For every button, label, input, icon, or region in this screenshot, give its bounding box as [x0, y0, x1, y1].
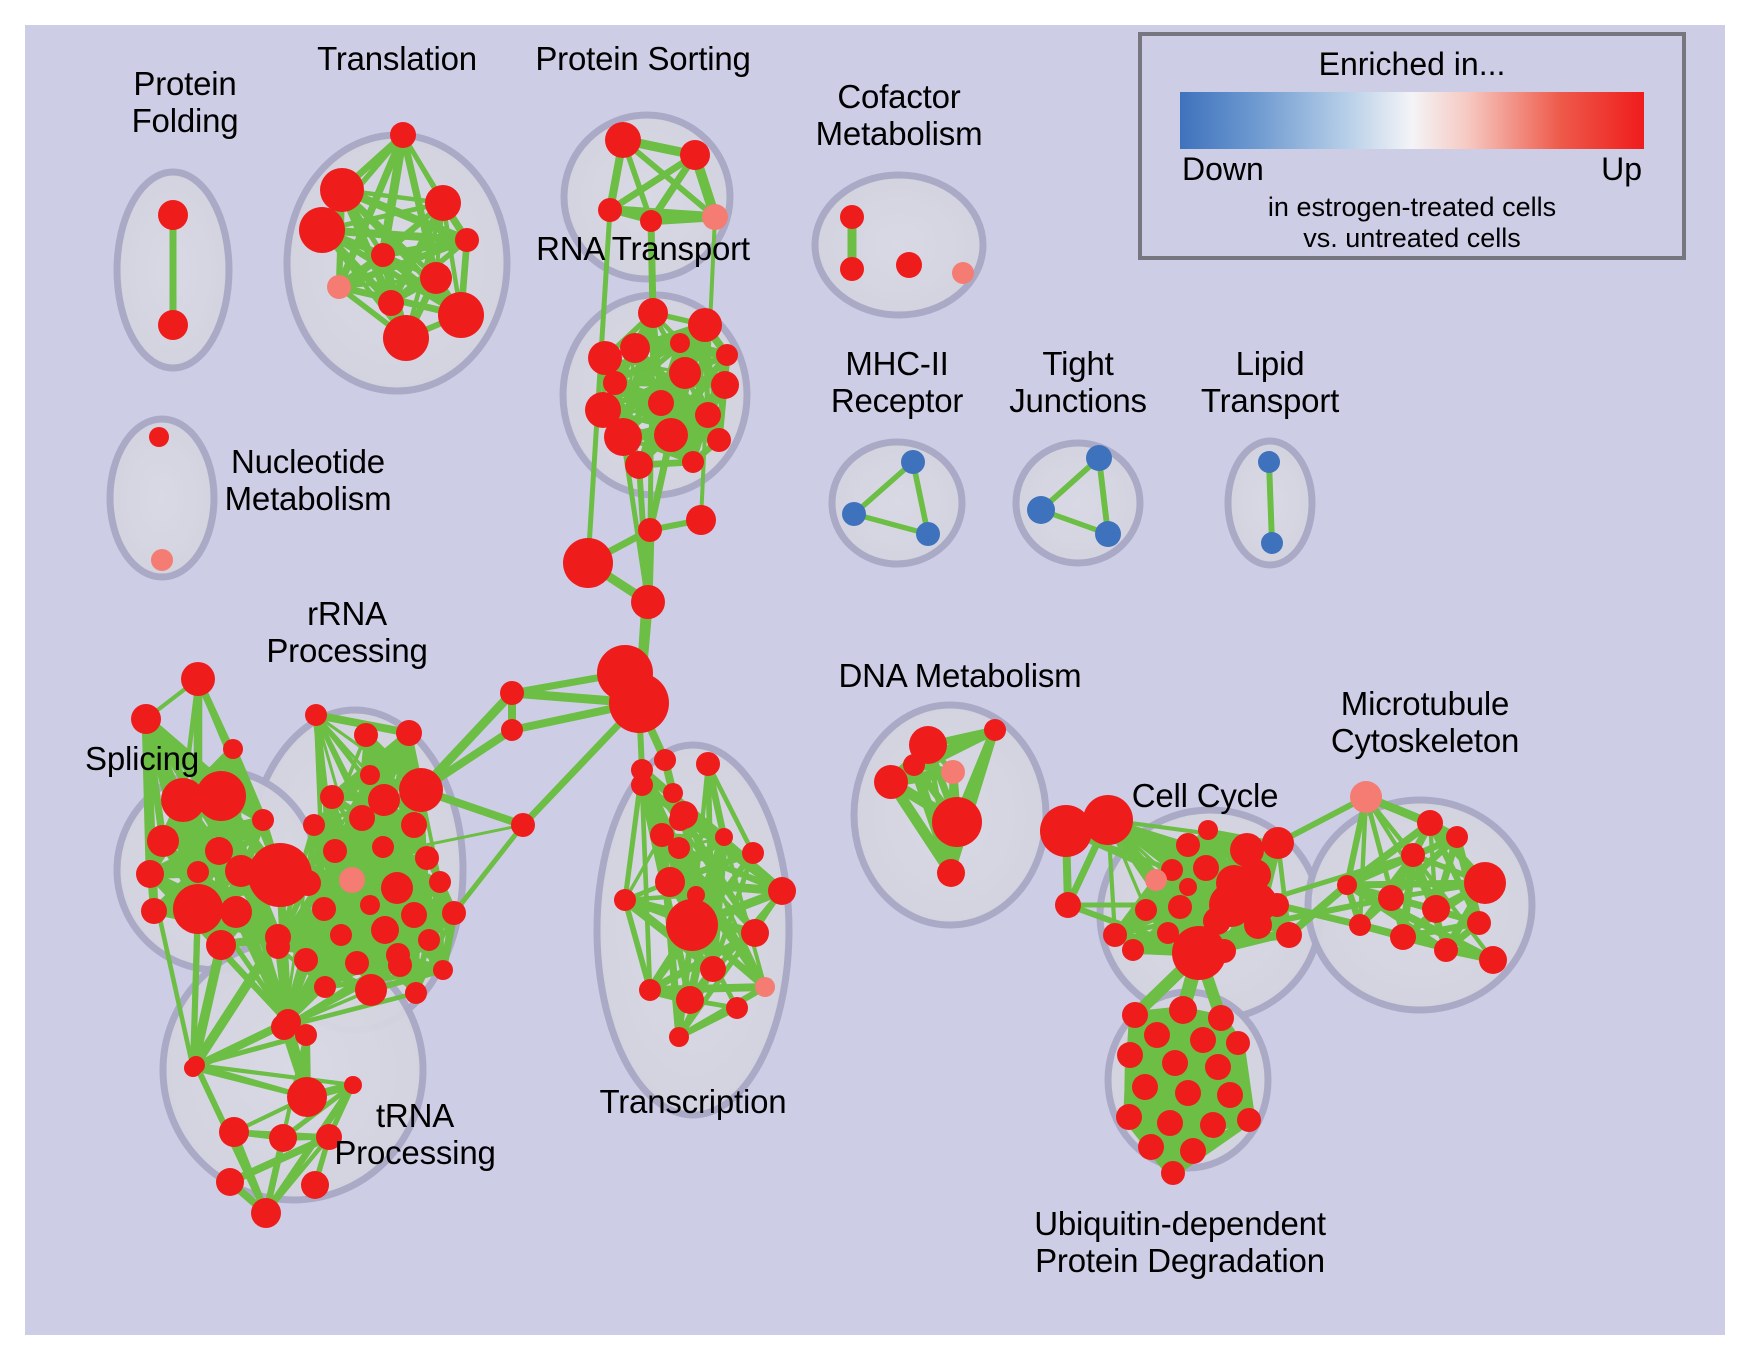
network-node	[563, 538, 613, 588]
network-node	[1417, 810, 1443, 836]
network-node	[669, 357, 701, 389]
network-node	[303, 814, 325, 836]
network-node	[151, 549, 173, 571]
network-node	[1169, 996, 1197, 1024]
legend-color-bar	[1180, 92, 1644, 149]
cluster-label-dna-metabolism: DNA Metabolism	[839, 657, 1082, 694]
cluster-label-microtubule-cytoskeleton: Microtubule Cytoskeleton	[1331, 685, 1519, 759]
network-node	[666, 899, 718, 951]
network-node	[984, 719, 1006, 741]
network-node	[700, 956, 726, 982]
network-node	[598, 198, 622, 222]
network-node	[603, 371, 627, 395]
network-node	[669, 1027, 689, 1047]
network-node	[755, 977, 775, 997]
network-node	[648, 390, 674, 416]
network-node	[396, 720, 422, 746]
network-node	[344, 1076, 362, 1094]
network-node	[1190, 1027, 1216, 1053]
network-node	[429, 871, 451, 893]
network-node	[354, 723, 378, 747]
network-node	[349, 805, 375, 831]
cluster-label-protein-folding: Protein Folding	[132, 65, 239, 139]
network-node	[1117, 1042, 1143, 1068]
network-node	[1464, 862, 1506, 904]
network-node	[360, 895, 380, 915]
network-node	[136, 860, 164, 888]
legend-low-label: Down	[1182, 151, 1264, 188]
network-node	[670, 333, 690, 353]
network-node	[294, 948, 318, 972]
network-node	[620, 333, 650, 363]
network-node	[1175, 1080, 1201, 1106]
cluster-label-transcription: Transcription	[600, 1083, 787, 1120]
network-node	[1193, 855, 1219, 881]
legend-box: Enriched in... Down Up in estrogen-treat…	[1138, 32, 1686, 260]
network-node	[711, 371, 739, 399]
network-node	[252, 809, 274, 831]
network-node	[158, 310, 188, 340]
network-node	[696, 752, 720, 776]
cluster-label-nucleotide-metabolism: Nucleotide Metabolism	[225, 443, 392, 517]
network-node	[715, 828, 733, 846]
network-node	[663, 783, 683, 803]
network-node	[1144, 1022, 1170, 1048]
network-node	[1422, 895, 1450, 923]
network-node	[187, 861, 209, 883]
network-plot-area: Protein Folding Translation Protein Sort…	[25, 25, 1725, 1335]
cluster-label-cell-cycle: Cell Cycle	[1132, 777, 1279, 814]
cluster-label-translation: Translation	[317, 40, 477, 77]
network-node	[707, 428, 731, 452]
network-node	[1205, 1054, 1231, 1080]
network-node	[355, 974, 387, 1006]
network-node	[1122, 939, 1144, 961]
network-node	[1122, 1002, 1148, 1028]
network-node	[1200, 1112, 1226, 1138]
network-node	[631, 585, 665, 619]
network-node	[500, 681, 524, 705]
network-node	[640, 210, 662, 232]
cluster-label-cofactor-metabolism: Cofactor Metabolism	[816, 78, 983, 152]
network-node	[345, 951, 369, 975]
network-node	[605, 122, 641, 158]
legend-subtitle-line-2: vs. untreated cells	[1142, 223, 1682, 254]
legend-subtitle-line-1: in estrogen-treated cells	[1142, 192, 1682, 223]
network-node	[295, 1024, 317, 1046]
network-node	[323, 839, 347, 863]
network-node	[1349, 914, 1371, 936]
cluster-label-splicing: Splicing	[85, 740, 199, 777]
cluster-label-tight-junctions: Tight Junctions	[1009, 345, 1147, 419]
network-node	[511, 813, 535, 837]
network-node	[1168, 895, 1192, 919]
cluster-label-mhc-ii-receptor: MHC-II Receptor	[831, 345, 963, 419]
cluster-label-ubiquitin-protein-degradation: Ubiquitin-dependent Protein Degradation	[1034, 1205, 1326, 1279]
network-node	[676, 986, 704, 1014]
network-node	[1055, 892, 1081, 918]
network-node	[418, 929, 440, 951]
network-node	[1467, 911, 1491, 935]
network-node	[399, 768, 443, 812]
network-node	[320, 785, 344, 809]
network-node	[1446, 826, 1468, 848]
network-node	[265, 924, 291, 950]
network-node	[149, 427, 169, 447]
network-node	[405, 982, 427, 1004]
network-node	[360, 765, 380, 785]
network-node	[716, 344, 738, 366]
network-node	[1027, 496, 1055, 524]
network-node	[196, 771, 246, 821]
network-node	[501, 719, 523, 741]
network-node	[206, 930, 236, 960]
network-node	[625, 451, 653, 479]
network-node	[371, 243, 395, 267]
network-node	[604, 418, 642, 456]
network-node	[401, 902, 427, 928]
network-node	[1434, 938, 1458, 962]
network-node	[425, 185, 461, 221]
network-node	[1237, 1108, 1261, 1132]
network-node	[339, 867, 365, 893]
network-node	[1208, 1005, 1234, 1031]
cluster-label-trna-processing: tRNA Processing	[334, 1097, 495, 1171]
network-node	[248, 843, 312, 907]
network-node	[1095, 521, 1121, 547]
network-node	[768, 877, 796, 905]
network-node	[686, 505, 716, 535]
network-node	[301, 1171, 329, 1199]
network-node	[688, 308, 722, 342]
network-node	[609, 673, 669, 733]
network-node	[1162, 1050, 1188, 1076]
network-node	[1180, 1138, 1206, 1164]
network-node	[668, 837, 690, 859]
network-node	[952, 262, 974, 284]
network-node	[1262, 827, 1294, 859]
network-node	[299, 207, 345, 253]
network-node	[312, 897, 336, 921]
network-node	[314, 976, 336, 998]
network-node	[680, 140, 710, 170]
cluster-label-rna-transport: RNA Transport	[536, 230, 750, 267]
network-node	[726, 997, 748, 1019]
network-node	[173, 884, 223, 934]
network-node	[682, 451, 704, 473]
network-node	[131, 704, 161, 734]
network-node	[442, 901, 466, 925]
network-node	[401, 812, 427, 838]
network-node	[1350, 781, 1382, 813]
cluster-label-lipid-transport: Lipid Transport	[1201, 345, 1339, 419]
figure-canvas: Protein Folding Translation Protein Sort…	[0, 0, 1750, 1360]
network-node	[455, 228, 479, 252]
network-node	[903, 754, 925, 776]
network-node	[187, 1056, 205, 1074]
network-node	[216, 1168, 244, 1196]
network-node	[438, 292, 484, 338]
network-node	[415, 846, 439, 870]
network-node	[742, 842, 764, 864]
cluster-ellipse-cofactor-metabolism	[815, 175, 983, 315]
network-node	[1198, 820, 1218, 840]
network-node	[327, 275, 351, 299]
network-node	[941, 760, 965, 784]
network-node	[1116, 1104, 1142, 1130]
network-node	[655, 867, 685, 897]
network-node	[1212, 939, 1236, 963]
network-node	[631, 774, 653, 796]
network-node	[386, 943, 410, 967]
network-node	[1276, 922, 1302, 948]
network-node	[147, 825, 179, 857]
network-node	[840, 205, 864, 229]
network-node	[1217, 1082, 1243, 1108]
network-node	[1479, 946, 1507, 974]
legend-endpoints: Down Up	[1142, 151, 1682, 188]
network-node	[1135, 899, 1157, 921]
network-node	[1226, 1031, 1250, 1055]
network-node	[383, 315, 429, 361]
network-node	[614, 889, 636, 911]
network-node	[702, 204, 728, 230]
network-node	[372, 836, 394, 858]
network-node	[1138, 1134, 1164, 1160]
network-node	[901, 450, 925, 474]
network-node	[223, 739, 243, 759]
network-node	[371, 916, 399, 944]
legend-title: Enriched in...	[1142, 46, 1682, 83]
network-edge	[650, 987, 765, 990]
network-node	[320, 168, 364, 212]
network-node	[1157, 1110, 1183, 1136]
cluster-label-rrna-processing: rRNA Processing	[266, 595, 427, 669]
network-edge	[1269, 462, 1272, 543]
network-node	[158, 200, 188, 230]
network-node	[1265, 893, 1289, 917]
network-edge	[650, 313, 653, 530]
network-node	[1244, 911, 1272, 939]
network-node	[1337, 875, 1357, 895]
network-node	[269, 1124, 297, 1152]
network-node	[874, 765, 908, 799]
network-node	[916, 522, 940, 546]
network-node	[390, 122, 416, 148]
network-node	[842, 502, 866, 526]
network-node	[638, 518, 662, 542]
network-node	[251, 1198, 281, 1228]
network-node	[220, 896, 252, 928]
network-node	[1145, 869, 1167, 891]
network-node	[654, 749, 676, 771]
network-node	[381, 872, 413, 904]
network-node	[1132, 1074, 1158, 1100]
network-node	[181, 662, 215, 696]
network-node	[1040, 805, 1092, 857]
network-node	[141, 898, 167, 924]
legend-high-label: Up	[1601, 151, 1642, 188]
network-node	[1086, 445, 1112, 471]
network-node	[741, 919, 769, 947]
network-node	[1261, 532, 1283, 554]
network-node	[1179, 878, 1197, 896]
network-node	[638, 298, 668, 328]
network-node	[669, 809, 691, 831]
network-node	[219, 1117, 249, 1147]
network-node	[1103, 923, 1127, 947]
network-node	[932, 797, 982, 847]
network-node	[1258, 451, 1280, 473]
network-node	[1176, 833, 1200, 857]
network-node	[588, 341, 622, 375]
network-node	[840, 257, 864, 281]
network-node	[420, 262, 452, 294]
network-node	[654, 418, 688, 452]
network-node	[433, 960, 453, 980]
network-node	[1390, 924, 1416, 950]
network-node	[1401, 843, 1425, 867]
network-node	[330, 924, 352, 946]
network-node	[937, 859, 965, 887]
network-node	[305, 704, 327, 726]
network-node	[287, 1077, 327, 1117]
network-node	[639, 979, 661, 1001]
network-node	[378, 290, 404, 316]
network-node	[896, 252, 922, 278]
network-node	[1161, 1161, 1185, 1185]
cluster-label-protein-sorting: Protein Sorting	[535, 40, 750, 77]
network-node	[695, 402, 721, 428]
network-node	[1378, 885, 1404, 911]
